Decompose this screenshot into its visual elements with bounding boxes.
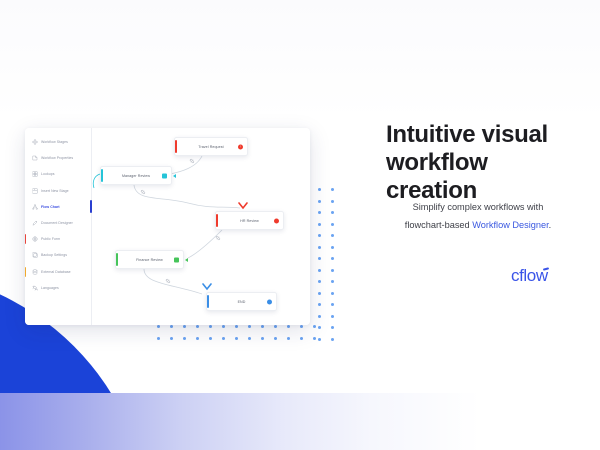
decorative-dot (331, 269, 334, 272)
sidebar-item-workflow-stages[interactable]: Workflow Stages (25, 134, 91, 150)
sidebar-edge-accent (25, 234, 26, 244)
headline-line-1: Intuitive visual (386, 121, 548, 148)
sidebar-item-label: Languages (41, 286, 59, 290)
flow-node-status-badge[interactable]: ! (238, 144, 243, 149)
flow-node-finance-review[interactable]: Finance Review (115, 250, 184, 269)
flowchart-canvas[interactable]: Travel Request!Manager ReviewHR ReviewFi… (92, 128, 310, 325)
decorative-dot (170, 325, 173, 328)
page-title: Intuitive visual workflow creation (386, 121, 576, 205)
decorative-dot (235, 325, 238, 328)
sidebar-item-external-database[interactable]: External Database (25, 264, 91, 280)
hr-review-inbound-arrow (238, 202, 248, 210)
sidebar-item-label: Lookups (41, 172, 55, 176)
decorative-dot (331, 303, 334, 306)
sidebar-item-public-form[interactable]: Public Form (25, 231, 91, 247)
link-edit-icon[interactable] (165, 278, 171, 284)
decorative-dot (222, 337, 225, 340)
decorative-dot (274, 325, 277, 328)
flow-node-manager-review[interactable]: Manager Review (100, 166, 172, 185)
sidebar-item-lookups[interactable]: Lookups (25, 166, 91, 182)
decorative-dot (318, 326, 321, 329)
flow-node-hr-review[interactable]: HR Review (215, 211, 284, 230)
sidebar-item-flow-chart[interactable]: Flow Chart (25, 199, 91, 215)
decorative-dot (331, 200, 334, 203)
move-stages-icon (32, 139, 38, 145)
decorative-dot (222, 325, 225, 328)
decorative-dot (318, 223, 321, 226)
flow-node-accent-bar (216, 214, 218, 227)
public-form-icon (32, 236, 38, 242)
properties-icon (32, 155, 38, 161)
decorative-dot (331, 338, 334, 341)
decorative-dot (248, 337, 251, 340)
sidebar-item-label: Document Designer (41, 221, 73, 225)
decorative-dot (313, 325, 316, 328)
flow-node-inbound-arrow (173, 174, 176, 178)
grid-table-icon (32, 171, 38, 177)
link-edit-icon[interactable] (215, 235, 221, 241)
sidebar-item-label: Flow Chart (41, 205, 60, 209)
decorative-dot (318, 338, 321, 341)
flow-node-status-badge[interactable] (162, 173, 167, 178)
end-node-inbound-arrow (202, 283, 212, 291)
flow-node-accent-bar (101, 169, 103, 182)
decorative-dot (235, 337, 238, 340)
decorative-dot (300, 337, 303, 340)
languages-icon (32, 285, 38, 291)
decorative-dot (196, 325, 199, 328)
subtitle: Simplify complex workflows with flowchar… (378, 199, 578, 235)
decorative-dot (318, 269, 321, 272)
decorative-dot (331, 326, 334, 329)
decorative-dot (331, 280, 334, 283)
sidebar-edge-accent (25, 267, 26, 277)
app-window-screenshot: Workflow StagesWorkflow PropertiesLookup… (25, 128, 310, 325)
sidebar-item-label: Public Form (41, 237, 60, 241)
decorative-dot (318, 315, 321, 318)
decorative-dot (331, 292, 334, 295)
decorative-dot (261, 325, 264, 328)
decorative-dot (331, 257, 334, 260)
decorative-dot (318, 200, 321, 203)
decorative-dot (318, 211, 321, 214)
headline-line-2: workflow creation (386, 149, 488, 204)
decorative-dot (287, 325, 290, 328)
decorative-dot (331, 246, 334, 249)
sidebar-item-label: Workflow Stages (41, 140, 68, 144)
decorative-dot (331, 223, 334, 226)
decorative-dot (287, 337, 290, 340)
sidebar-item-label: Workflow Properties (41, 156, 73, 160)
decorative-dot (318, 188, 321, 191)
flow-node-status-badge[interactable] (267, 299, 272, 304)
flow-node-status-badge[interactable] (174, 257, 179, 262)
decorative-dot (248, 325, 251, 328)
decorative-dot (157, 337, 160, 340)
sidebar-item-languages[interactable]: Languages (25, 280, 91, 296)
decorative-dot (274, 337, 277, 340)
subtitle-line-2-prefix: flowchart-based (405, 220, 472, 230)
app-sidebar: Workflow StagesWorkflow PropertiesLookup… (25, 128, 92, 325)
sidebar-item-workflow-properties[interactable]: Workflow Properties (25, 150, 91, 166)
decorative-dot (183, 325, 186, 328)
sidebar-item-label: External Database (41, 270, 71, 274)
insert-stage-icon (32, 188, 38, 194)
decorative-dot (157, 325, 160, 328)
sidebar-item-insert-new-stage[interactable]: Insert New Stage (25, 183, 91, 199)
decorative-dot (318, 234, 321, 237)
decorative-dot (318, 280, 321, 283)
flow-node-accent-bar (207, 295, 209, 308)
flow-chart-icon (32, 204, 38, 210)
flow-node-label: Manager Review (122, 174, 150, 178)
flow-node-label: END (238, 300, 246, 304)
flow-node-label: Travel Request (198, 145, 223, 149)
sidebar-item-backup-settings[interactable]: Backup Settings (25, 247, 91, 263)
decorative-dot (261, 337, 264, 340)
decorative-dot (331, 315, 334, 318)
bottom-gradient-band (0, 393, 600, 450)
flow-node-label: HR Review (240, 219, 259, 223)
subtitle-line-1: Simplify complex workflows with (413, 202, 544, 212)
backup-settings-icon (32, 252, 38, 258)
flow-node-inbound-arrow (185, 258, 188, 262)
flow-node-travel-request[interactable]: Travel Request! (174, 137, 248, 156)
decorative-dot (209, 325, 212, 328)
link-edit-icon[interactable] (189, 158, 195, 164)
cflow-logo: cflow (511, 266, 548, 286)
background-top-wash (0, 0, 600, 120)
decorative-dot (170, 337, 173, 340)
flow-node-accent-bar (175, 140, 177, 153)
flow-node-label: Finance Review (136, 258, 163, 262)
promo-banner: Workflow StagesWorkflow PropertiesLookup… (0, 0, 600, 450)
link-edit-icon[interactable] (140, 189, 146, 195)
decorative-dot (209, 337, 212, 340)
decorative-dot (318, 292, 321, 295)
decorative-dot (196, 337, 199, 340)
document-designer-icon (32, 220, 38, 226)
flow-node-end-node[interactable]: END (206, 292, 277, 311)
decorative-dot (331, 234, 334, 237)
flow-node-accent-bar (116, 253, 118, 266)
flow-node-status-badge[interactable] (274, 218, 279, 223)
decorative-dot (300, 325, 303, 328)
decorative-dot (318, 246, 321, 249)
subtitle-line-2-suffix: . (549, 220, 552, 230)
external-database-icon (32, 269, 38, 275)
sidebar-item-label: Insert New Stage (41, 189, 69, 193)
workflow-designer-link[interactable]: Workflow Designer (472, 220, 548, 230)
decorative-dot (318, 303, 321, 306)
decorative-dot (331, 211, 334, 214)
decorative-dot (331, 188, 334, 191)
decorative-dot (318, 257, 321, 260)
decorative-dot (183, 337, 186, 340)
decorative-dot (313, 337, 316, 340)
sidebar-item-label: Backup Settings (41, 253, 67, 257)
sidebar-item-document-designer[interactable]: Document Designer (25, 215, 91, 231)
